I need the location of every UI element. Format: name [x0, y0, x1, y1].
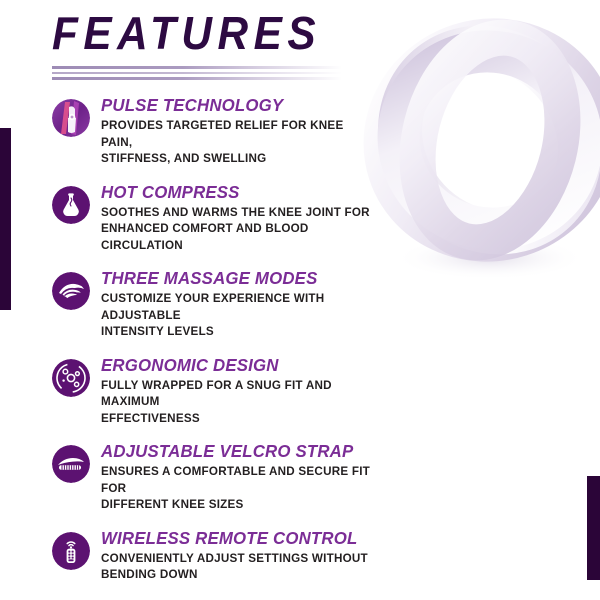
feature-description: CUSTOMIZE YOUR EXPERIENCE WITH ADJUSTABL…: [101, 290, 375, 339]
velcro-strap-icon: [52, 445, 90, 483]
feature-description: PROVIDES TARGETED RELIEF FOR KNEE PAIN, …: [101, 117, 375, 166]
hot-compress-flask-icon: [52, 186, 90, 224]
wireless-remote-icon: [52, 532, 90, 570]
feature-title: ERGONOMIC DESIGN: [101, 356, 380, 374]
feature-title: WIRELESS REMOTE CONTROL: [101, 529, 380, 547]
feature-text-pulse-technology: PULSE TECHNOLOGY PROVIDES TARGETED RELIE…: [101, 96, 392, 167]
feature-list: PULSE TECHNOLOGY PROVIDES TARGETED RELIE…: [52, 96, 392, 599]
title-block: FEATURES: [52, 10, 472, 83]
page-title: FEATURES: [52, 10, 438, 56]
left-accent-bar: [0, 128, 11, 310]
right-accent-bar: [587, 476, 600, 580]
feature-text-ergonomic-design: ERGONOMIC DESIGN FULLY WRAPPED FOR A SNU…: [101, 356, 392, 427]
feature-title: HOT COMPRESS: [101, 183, 380, 201]
feature-text-hot-compress: HOT COMPRESS SOOTHES AND WARMS THE KNEE …: [101, 183, 392, 254]
feature-item-adjustable-velcro-strap: ADJUSTABLE VELCRO STRAP ENSURES A COMFOR…: [52, 442, 392, 513]
feature-description: CONVENIENTLY ADJUST SETTINGS WITHOUT BEN…: [101, 550, 375, 583]
title-rule-1: [52, 66, 342, 69]
feature-text-wireless-remote-control: WIRELESS REMOTE CONTROL CONVENIENTLY ADJ…: [101, 529, 392, 583]
feature-text-three-massage-modes: THREE MASSAGE MODES CUSTOMIZE YOUR EXPER…: [101, 269, 392, 340]
feature-item-three-massage-modes: THREE MASSAGE MODES CUSTOMIZE YOUR EXPER…: [52, 269, 392, 340]
feature-item-ergonomic-design: ERGONOMIC DESIGN FULLY WRAPPED FOR A SNU…: [52, 356, 392, 427]
feature-text-adjustable-velcro-strap: ADJUSTABLE VELCRO STRAP ENSURES A COMFOR…: [101, 442, 392, 513]
feature-item-wireless-remote-control: WIRELESS REMOTE CONTROL CONVENIENTLY ADJ…: [52, 529, 392, 583]
feature-description: ENSURES A COMFORTABLE AND SECURE FIT FOR…: [101, 463, 375, 512]
feature-poster: FEATURES: [0, 0, 600, 600]
feature-item-pulse-technology: PULSE TECHNOLOGY PROVIDES TARGETED RELIE…: [52, 96, 392, 167]
title-rule-3: [52, 77, 342, 80]
feature-description: SOOTHES AND WARMS THE KNEE JOINT FOR ENH…: [101, 204, 375, 253]
ergonomic-dots-icon: [52, 359, 90, 397]
title-underline-rules: [52, 66, 342, 80]
knee-joint-pulse-icon: [52, 99, 90, 137]
massage-waves-icon: [52, 272, 90, 310]
title-rule-2: [52, 72, 342, 74]
feature-title: PULSE TECHNOLOGY: [101, 96, 380, 114]
feature-item-hot-compress: HOT COMPRESS SOOTHES AND WARMS THE KNEE …: [52, 183, 392, 254]
feature-description: FULLY WRAPPED FOR A SNUG FIT AND MAXIMUM…: [101, 377, 375, 426]
feature-title: ADJUSTABLE VELCRO STRAP: [101, 442, 380, 460]
feature-title: THREE MASSAGE MODES: [101, 269, 380, 287]
